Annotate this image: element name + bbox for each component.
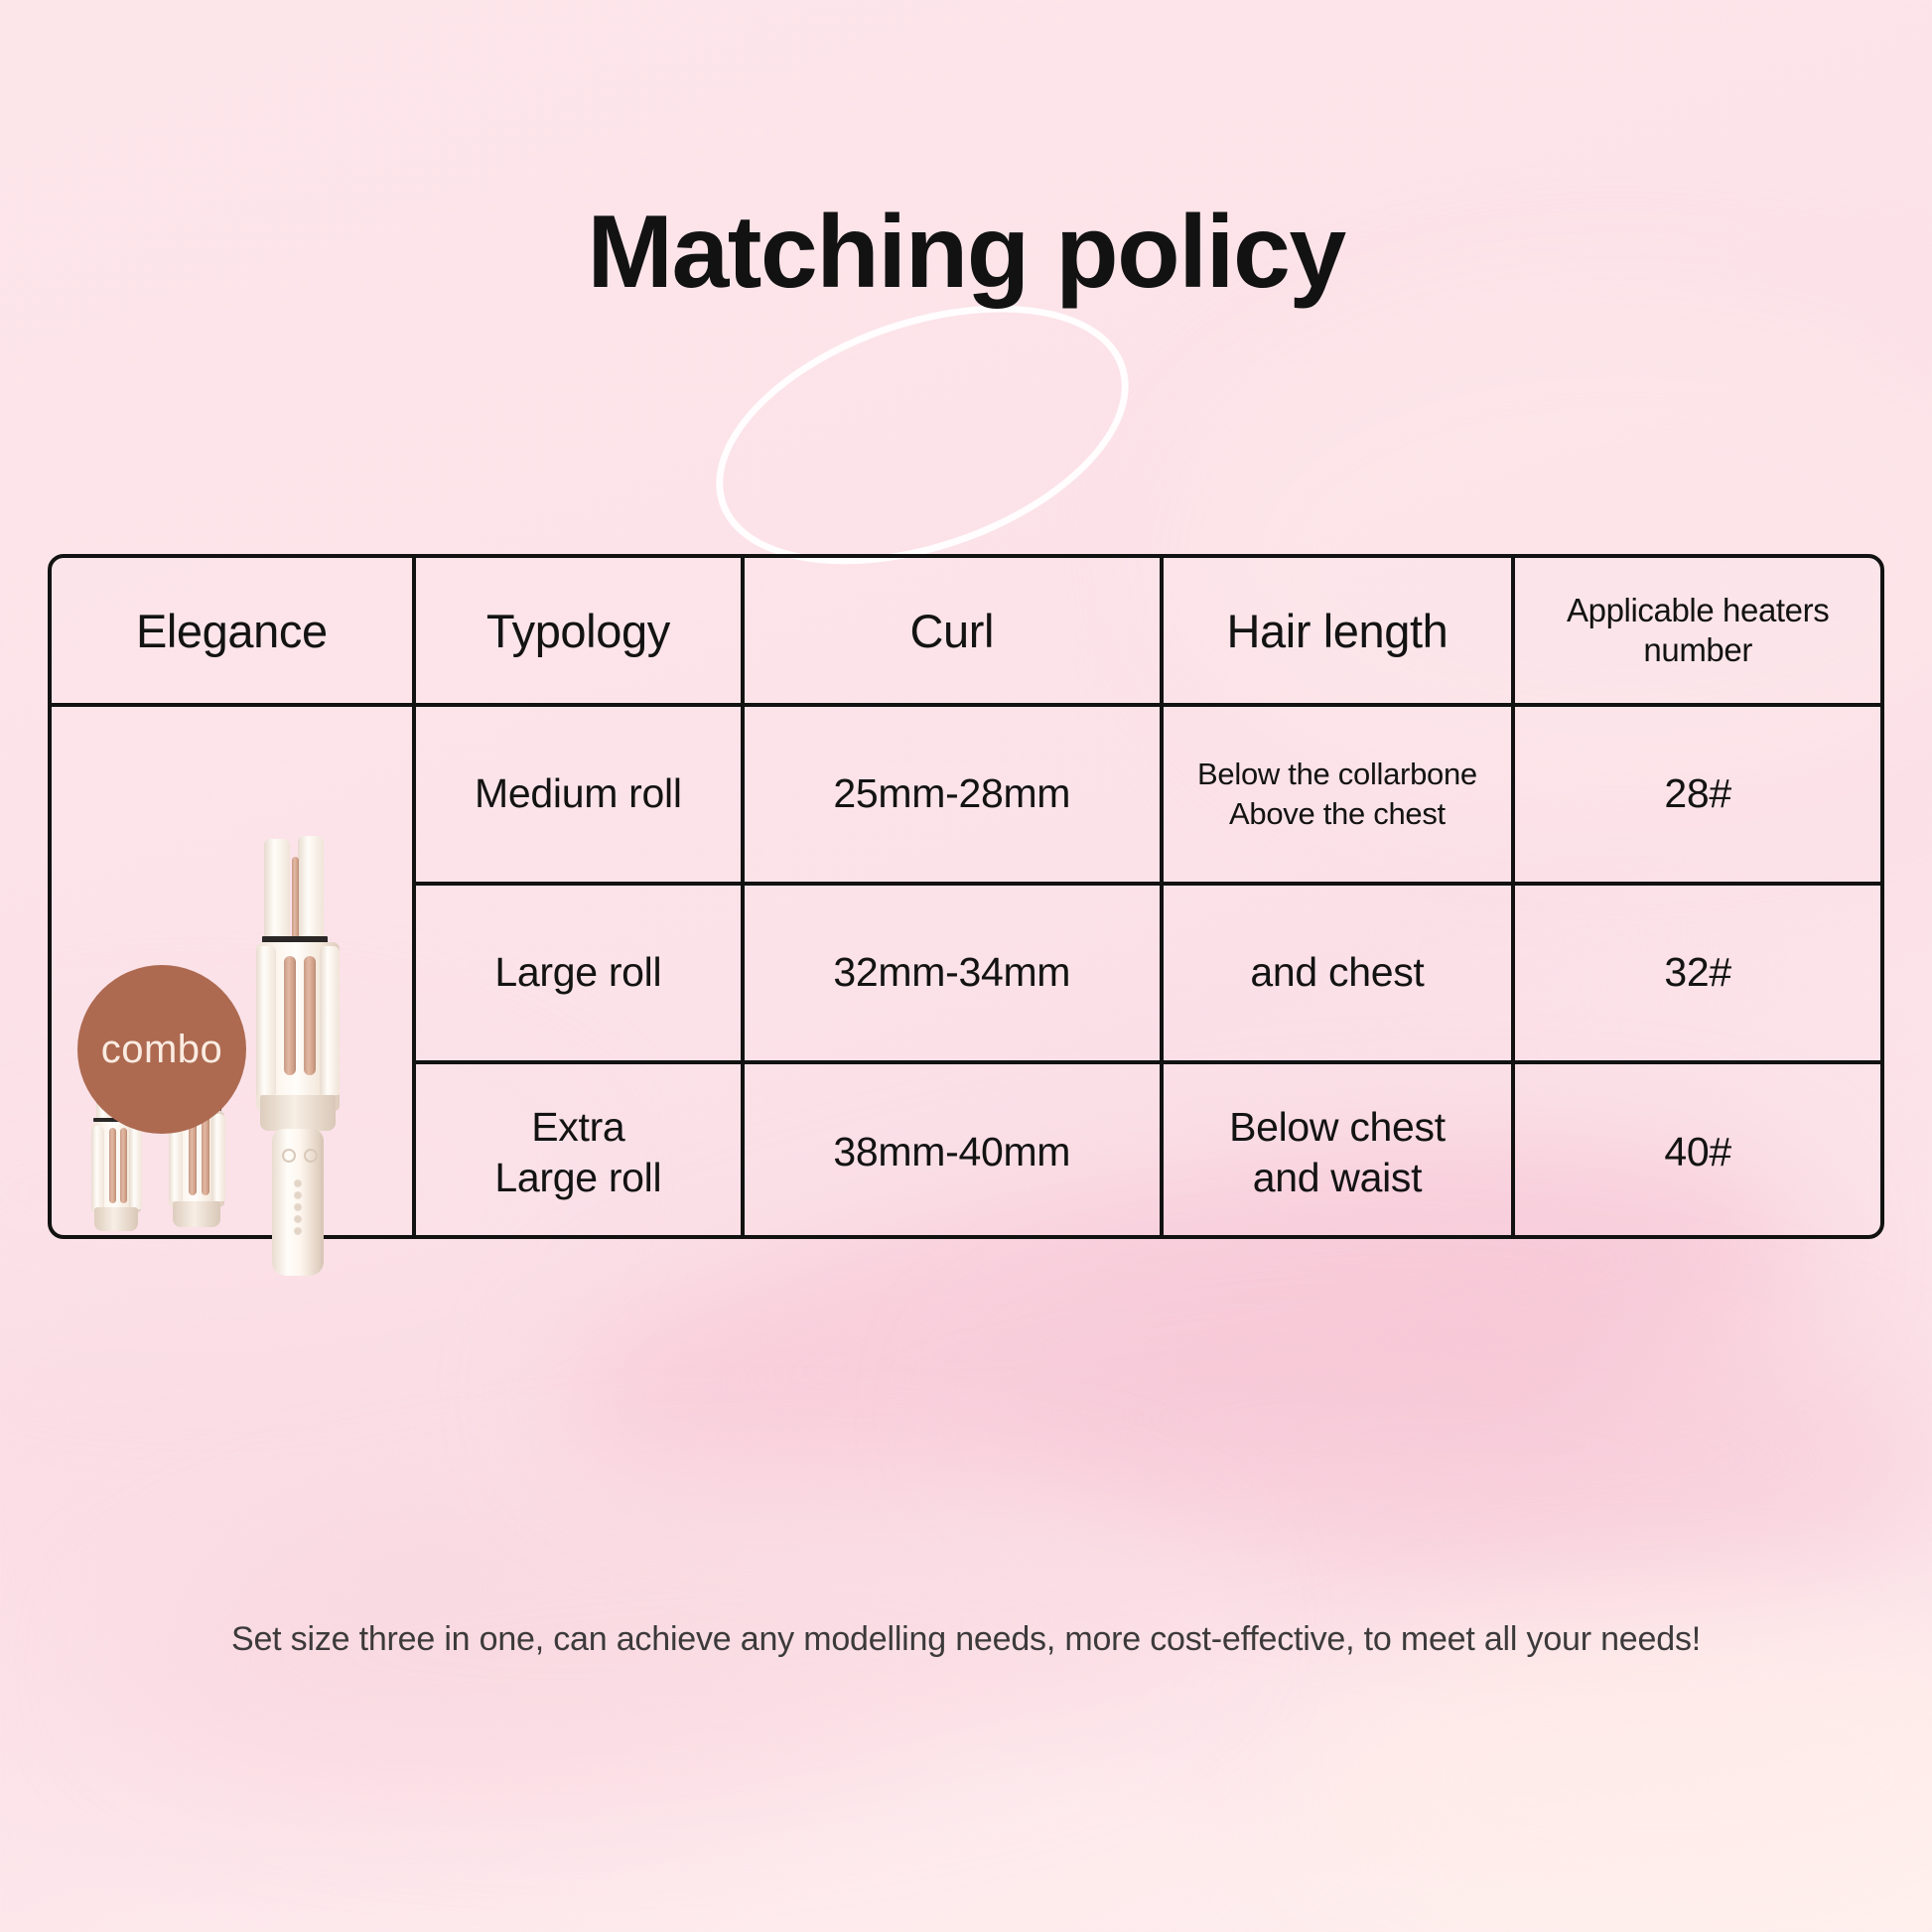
column-header-elegance: Elegance — [52, 558, 414, 705]
cell-heaters-3: 40# — [1513, 1062, 1880, 1239]
cell-hair-length-1: Below the collarbone Above the chest — [1162, 705, 1514, 884]
hair-length-line: and chest — [1172, 947, 1504, 998]
footer-caption: Set size three in one, can achieve any m… — [0, 1620, 1932, 1659]
column-header-typology: Typology — [414, 558, 743, 705]
cell-hair-length-3: Below chest and waist — [1162, 1062, 1514, 1239]
cell-curl-2: 32mm-34mm — [743, 884, 1162, 1062]
page-title: Matching policy — [0, 201, 1932, 304]
table-header-row: Elegance Typology Curl Hair length Appli… — [52, 558, 1880, 705]
typology-line: Extra — [424, 1102, 733, 1153]
background-wash — [965, 1276, 1932, 1602]
hair-length-line: Above the chest — [1172, 794, 1504, 834]
cell-typology-2: Large roll — [414, 884, 743, 1062]
column-header-applicable-heaters-number: Applicable heaters number — [1513, 558, 1880, 705]
cell-heaters-1: 28# — [1513, 705, 1880, 884]
typology-line: Large roll — [424, 1153, 733, 1203]
curling-iron-large — [254, 839, 345, 1276]
cell-heaters-2: 32# — [1513, 884, 1880, 1062]
column-header-hair-length: Hair length — [1162, 558, 1514, 705]
column-header-curl: Curl — [743, 558, 1162, 705]
cell-typology-3: Extra Large roll — [414, 1062, 743, 1239]
cell-typology-1: Medium roll — [414, 705, 743, 884]
combo-badge: combo — [77, 965, 246, 1134]
hair-length-line: Below chest — [1172, 1102, 1504, 1153]
hair-length-line: Below the collarbone — [1172, 755, 1504, 794]
hair-length-line: and waist — [1172, 1153, 1504, 1203]
cell-curl-3: 38mm-40mm — [743, 1062, 1162, 1239]
combo-badge-label: combo — [101, 1028, 223, 1072]
cell-hair-length-2: and chest — [1162, 884, 1514, 1062]
cell-curl-1: 25mm-28mm — [743, 705, 1162, 884]
